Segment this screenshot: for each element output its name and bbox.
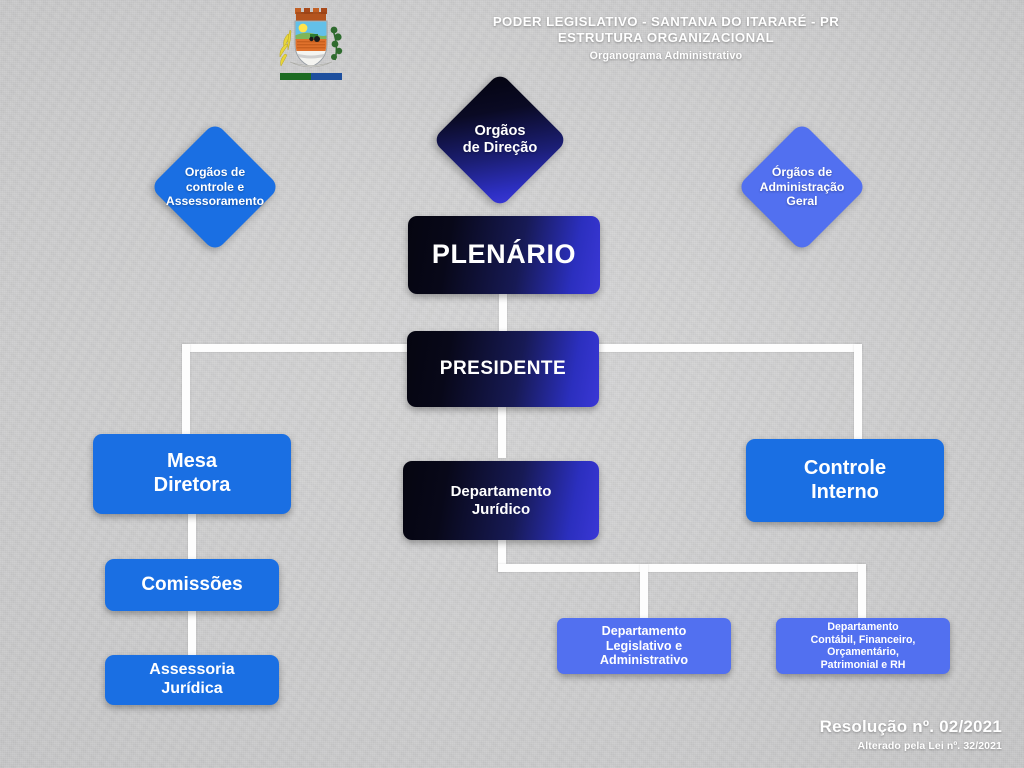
node-assessoria-juridica[interactable]: Assessoria Jurídica xyxy=(105,655,279,705)
wire-drop-dep-contabil xyxy=(858,564,866,618)
legend-diamond-administracao[interactable]: Órgãos de Administração Geral xyxy=(756,141,848,233)
legend-diamond-controle[interactable]: Orgãos de controle e Assessoramento xyxy=(169,141,261,233)
legend-diamond-controle-label: Orgãos de controle e Assessoramento xyxy=(166,165,264,209)
node-departamento-juridico[interactable]: Departamento Jurídico xyxy=(403,461,599,540)
footer-amendment: Alterado pela Lei nº. 32/2021 xyxy=(820,740,1002,752)
node-departamento-contabil[interactable]: Departamento Contábil, Financeiro, Orçam… xyxy=(776,618,950,674)
legend-diamond-direcao[interactable]: Orgãos de Direção xyxy=(452,92,548,188)
header-title-line2: ESTRUTURA ORGANIZACIONAL xyxy=(356,30,976,46)
legend-diamond-direcao-label: Orgãos de Direção xyxy=(452,123,548,158)
node-controle-interno-label: Controle Interno xyxy=(804,457,886,504)
node-presidente-label: PRESIDENTE xyxy=(440,358,566,380)
node-departamento-legislativo[interactable]: Departamento Legislativo e Administrativ… xyxy=(557,618,731,674)
legend-diamond-administracao-label: Órgãos de Administração Geral xyxy=(756,165,848,209)
wire-bottom-bus xyxy=(498,564,866,572)
wire-drop-mesa xyxy=(182,344,190,434)
node-mesa-diretora[interactable]: Mesa Diretora xyxy=(93,434,291,514)
header-text-block: PODER LEGISLATIVO - SANTANA DO ITARARÉ -… xyxy=(356,14,976,62)
wire-presidente-juridico xyxy=(498,406,506,458)
footer-block: Resolução nº. 02/2021 Alterado pela Lei … xyxy=(820,717,1002,752)
node-assessoria-juridica-label: Assessoria Jurídica xyxy=(149,661,234,699)
wire-comissoes-assessoria xyxy=(188,610,196,656)
node-departamento-juridico-label: Departamento Jurídico xyxy=(451,483,552,518)
node-plenario[interactable]: PLENÁRIO xyxy=(408,216,600,294)
wire-plenario-presidente xyxy=(499,294,507,332)
node-plenario-label: PLENÁRIO xyxy=(432,239,576,271)
node-comissoes-label: Comissões xyxy=(141,574,242,596)
header-title-line1: PODER LEGISLATIVO - SANTANA DO ITARARÉ -… xyxy=(356,14,976,30)
node-mesa-diretora-label: Mesa Diretora xyxy=(154,450,231,497)
node-departamento-legislativo-label: Departamento Legislativo e Administrativ… xyxy=(600,624,688,669)
node-controle-interno[interactable]: Controle Interno xyxy=(746,439,944,522)
coat-of-arms-icon xyxy=(268,6,354,82)
node-departamento-contabil-label: Departamento Contábil, Financeiro, Orçam… xyxy=(811,621,916,671)
page-header: PODER LEGISLATIVO - SANTANA DO ITARARÉ -… xyxy=(0,0,1024,88)
organogram-canvas: PODER LEGISLATIVO - SANTANA DO ITARARÉ -… xyxy=(0,0,1024,768)
footer-resolution: Resolução nº. 02/2021 xyxy=(820,717,1002,737)
node-presidente[interactable]: PRESIDENTE xyxy=(407,331,599,407)
wire-mesa-comissoes xyxy=(188,514,196,560)
node-comissoes[interactable]: Comissões xyxy=(105,559,279,611)
wire-drop-controle xyxy=(854,344,862,439)
header-subtitle: Organograma Administrativo xyxy=(356,50,976,62)
wire-drop-dep-legislativo xyxy=(640,564,648,618)
